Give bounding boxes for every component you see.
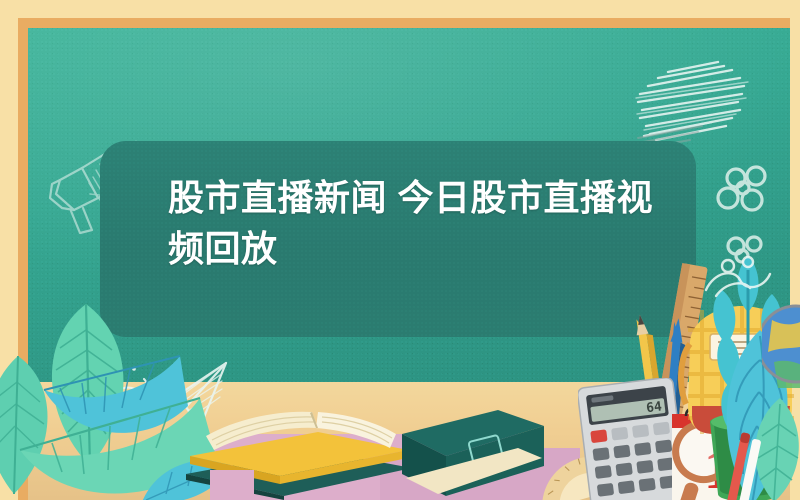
chalk-swirl-icon: [700, 252, 780, 302]
book-dark-green: [398, 404, 548, 500]
desk-pink-left-accent: [210, 470, 254, 500]
chalk-eraser-smudge-icon: [628, 48, 756, 156]
frame-sand-top: [0, 0, 800, 18]
page-title: 股市直播新闻 今日股市直播视频回放: [168, 172, 668, 274]
marker-pens: [724, 430, 770, 500]
frame-accent-top: [18, 18, 800, 28]
calculator-display-value: 64: [645, 399, 663, 416]
poster-canvas: 股市直播新闻 今日股市直播视频回放: [0, 0, 800, 500]
globe-icon: [762, 300, 800, 390]
